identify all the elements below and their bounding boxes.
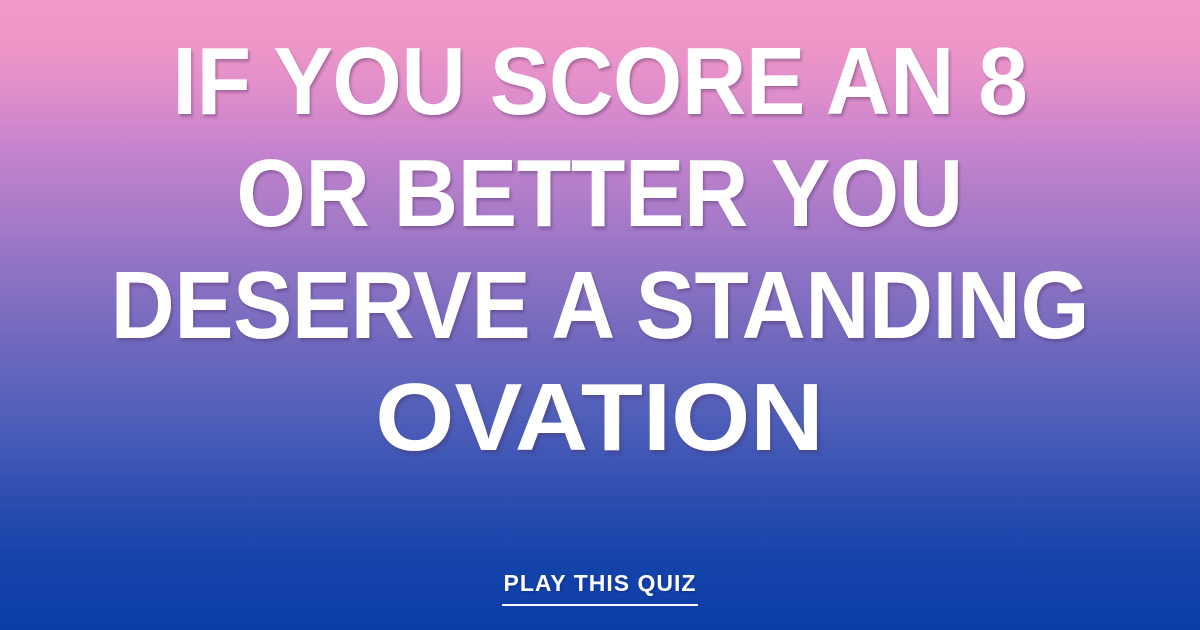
headline-line-4: OVATION [376,370,824,466]
headline: IF YOU SCORE AN 8 OR BETTER YOU DESERVE … [0,28,1200,466]
headline-line-1: IF YOU SCORE AN 8 [172,34,1027,130]
headline-line-2: OR BETTER YOU [237,146,963,242]
cta-container: PLAY THIS QUIZ [0,568,1200,606]
quiz-promo-card: IF YOU SCORE AN 8 OR BETTER YOU DESERVE … [0,0,1200,630]
headline-line-3: DESERVE A STANDING [111,258,1089,354]
play-this-quiz-link[interactable]: PLAY THIS QUIZ [502,568,699,606]
